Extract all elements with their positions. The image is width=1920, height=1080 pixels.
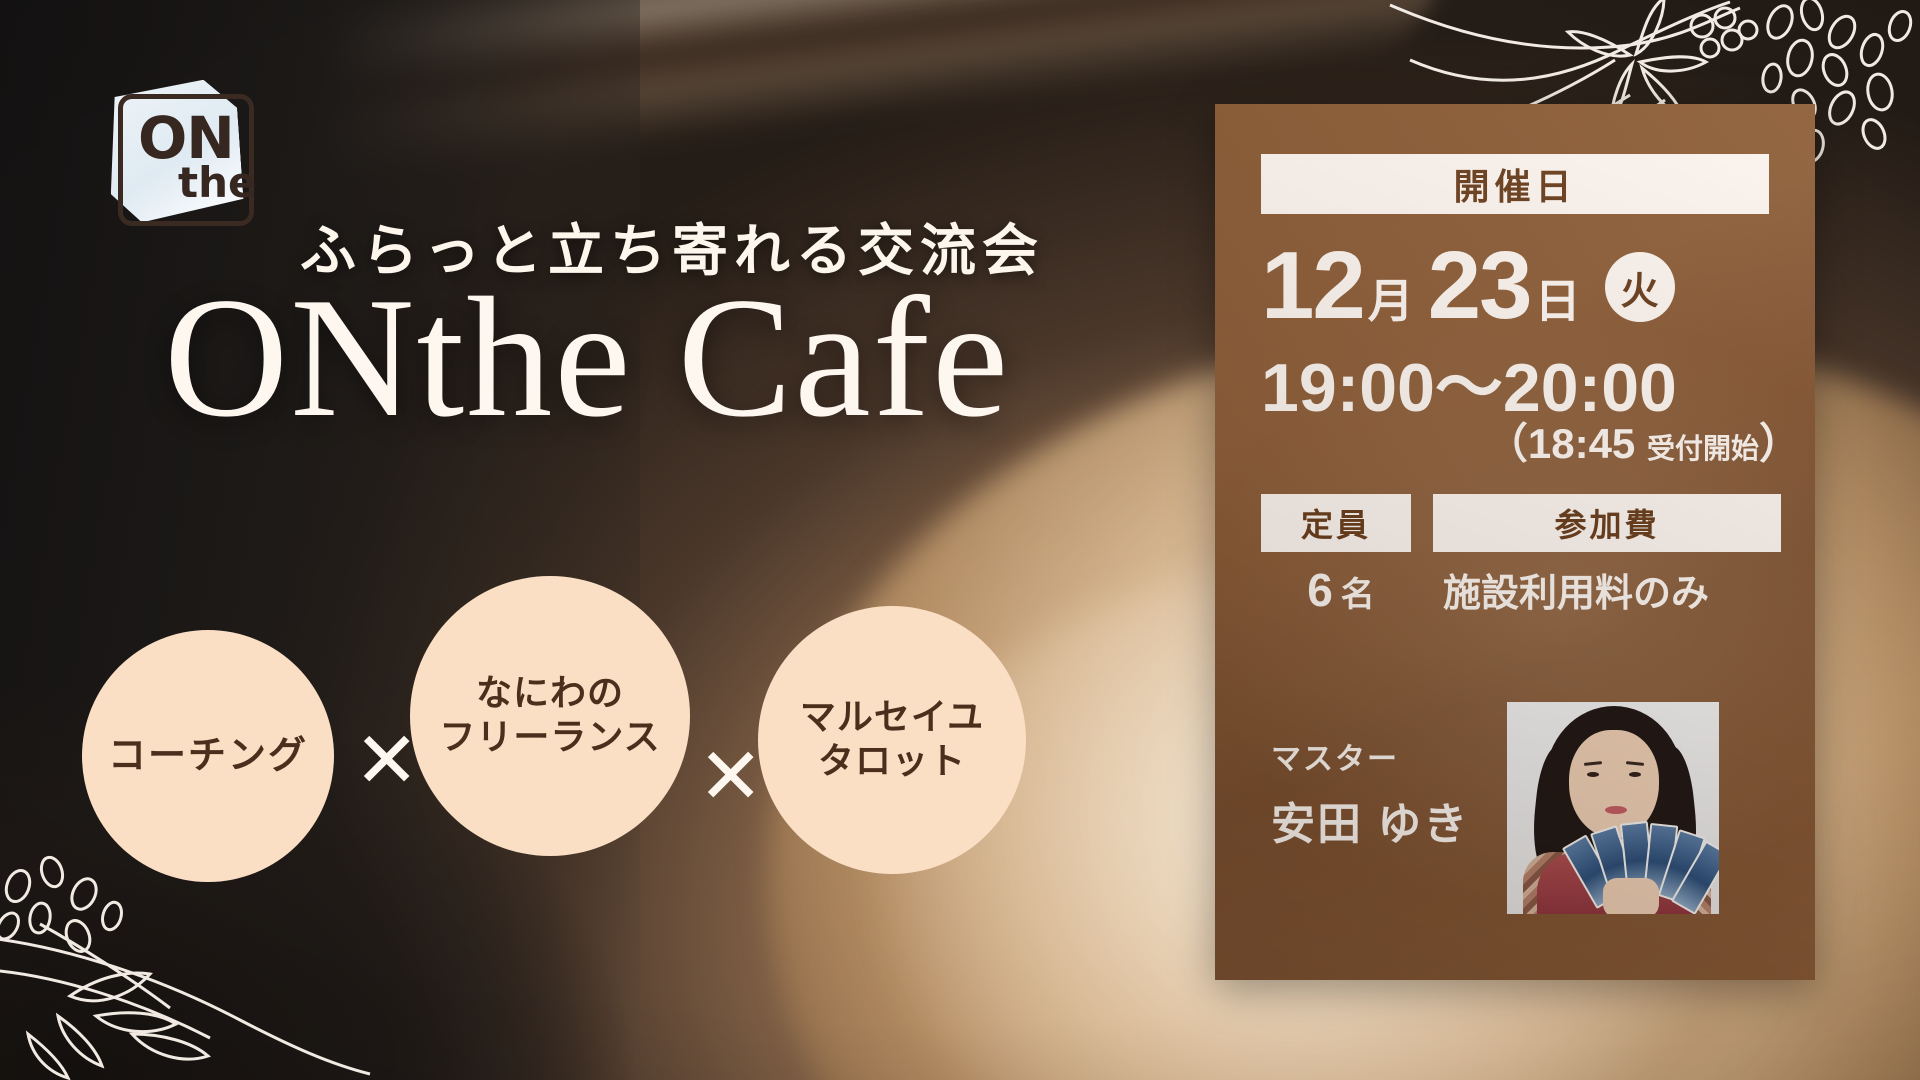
capacity-fee-chips: 定員 参加費 bbox=[1261, 494, 1781, 552]
reception-close-paren: ） bbox=[1759, 420, 1801, 467]
fee-value: 施設利用料のみ bbox=[1443, 562, 1709, 617]
event-info-panel: 開催日 12 月 23 日 火 19:00〜20:00 （18:45 受付開始）… bbox=[1215, 104, 1815, 980]
master-block: マスター 安田 ゆき bbox=[1271, 734, 1469, 852]
capacity-value-group: 6名 bbox=[1261, 563, 1421, 617]
photo-lips bbox=[1605, 806, 1627, 814]
capacity-unit: 名 bbox=[1341, 576, 1375, 614]
reception-label: 受付開始 bbox=[1647, 433, 1759, 464]
reception-open-paren: （ bbox=[1486, 420, 1528, 467]
cross-separator-2: ✕ bbox=[698, 738, 763, 816]
master-name: 安田 ゆき bbox=[1271, 788, 1469, 852]
date-month: 12 bbox=[1261, 242, 1364, 330]
logo-text-the: the bbox=[178, 158, 256, 207]
photo-eye-left bbox=[1587, 772, 1599, 777]
master-photo bbox=[1507, 702, 1719, 914]
photo-eye-right bbox=[1629, 772, 1641, 777]
keyword-label-coaching: コーチング bbox=[108, 733, 308, 779]
cross-separator-1: ✕ bbox=[354, 722, 419, 800]
keyword-tarot-line1: マルセイユ bbox=[800, 697, 984, 737]
event-flyer: ON the ふらっと立ち寄れる交流会 ONthe Cafe コーチング ✕ な… bbox=[0, 0, 1920, 1080]
keyword-freelance-line2: フリーランス bbox=[439, 717, 660, 757]
keyword-label-freelance: なにわの フリーランス bbox=[439, 672, 660, 760]
reception-time-value: 18:45 bbox=[1528, 420, 1635, 467]
keyword-circle-coaching: コーチング bbox=[82, 630, 334, 882]
keyword-freelance-line1: なにわの bbox=[476, 673, 624, 713]
keyword-circles: コーチング ✕ なにわの フリーランス ✕ マルセイユ タロット bbox=[72, 576, 1132, 886]
master-label: マスター bbox=[1271, 734, 1469, 778]
fee-chip: 参加費 bbox=[1433, 494, 1781, 552]
keyword-tarot-line2: タロット bbox=[818, 741, 966, 781]
keyword-label-tarot: マルセイユ タロット bbox=[800, 696, 984, 784]
date-chip: 開催日 bbox=[1261, 154, 1769, 214]
date-day-unit: 日 bbox=[1535, 278, 1581, 324]
date-weekday-badge: 火 bbox=[1605, 252, 1675, 322]
capacity-chip: 定員 bbox=[1261, 494, 1411, 552]
keyword-circle-tarot: マルセイユ タロット bbox=[758, 606, 1026, 874]
reception-time: （18:45 受付開始） bbox=[1261, 410, 1807, 471]
date-day: 23 bbox=[1428, 242, 1531, 330]
keyword-circle-freelance: なにわの フリーランス bbox=[410, 576, 690, 856]
event-date: 12 月 23 日 火 bbox=[1261, 226, 1781, 330]
date-month-unit: 月 bbox=[1368, 278, 1414, 324]
hero-title: ONthe Cafe bbox=[164, 272, 1010, 444]
capacity-fee-values: 6名 施設利用料のみ bbox=[1261, 562, 1801, 622]
onthe-logo[interactable]: ON the bbox=[92, 78, 262, 233]
photo-hands bbox=[1603, 878, 1659, 914]
capacity-value: 6 bbox=[1307, 564, 1333, 616]
